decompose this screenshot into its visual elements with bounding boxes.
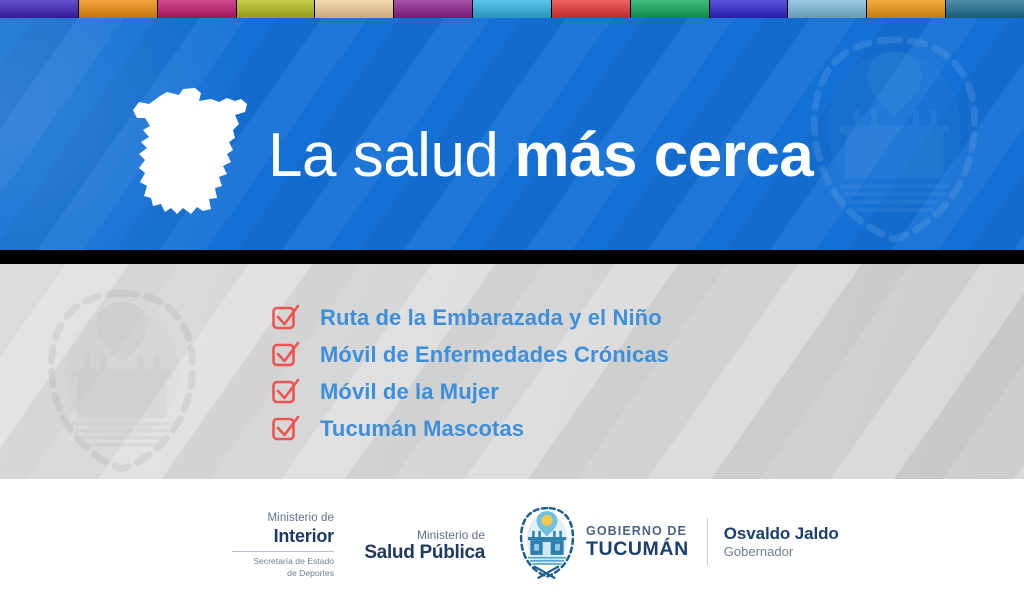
- list-item[interactable]: Ruta de la Embarazada y el Niño: [272, 299, 669, 336]
- color-swatch-olive: [237, 0, 316, 18]
- gobierno-line2: TUCUMÁN: [586, 538, 689, 560]
- color-swatch-light-blue: [788, 0, 867, 18]
- hero-banner: La salud más cerca: [0, 18, 1024, 250]
- list-item-label: Ruta de la Embarazada y el Niño: [320, 305, 662, 331]
- logo-ministerio-salud-publica: Ministerio de Salud Pública: [355, 528, 485, 565]
- salud-line1: Ministerio de: [355, 528, 485, 542]
- headline-bold: más cerca: [514, 125, 813, 187]
- salud-line2: Salud Pública: [355, 542, 485, 565]
- list-item[interactable]: Móvil de la Mujer: [272, 373, 669, 410]
- black-divider: [0, 250, 1024, 264]
- coat-of-arms-watermark-icon: [36, 286, 208, 476]
- color-strip: [0, 0, 1024, 18]
- tucuman-map-icon: [123, 80, 263, 228]
- gobierno-divider: [707, 518, 708, 566]
- gobierno-wordmark: GOBIERNO DE TUCUMÁN: [586, 524, 689, 561]
- interior-line3b: de Deportes: [226, 568, 334, 580]
- color-swatch-peach: [315, 0, 394, 18]
- list-item-label: Tucumán Mascotas: [320, 416, 524, 442]
- page-title: La salud más cerca: [268, 114, 813, 198]
- list-item-label: Móvil de la Mujer: [320, 379, 499, 405]
- coat-of-arms-watermark-icon: [787, 32, 1002, 247]
- checkbox-checked-icon[interactable]: [272, 416, 299, 442]
- color-swatch-amber: [867, 0, 946, 18]
- footer: [0, 479, 1024, 613]
- interior-divider: [232, 551, 334, 552]
- color-swatch-blue-violet: [710, 0, 789, 18]
- color-swatch-cyan: [473, 0, 552, 18]
- interior-line2: Interior: [226, 526, 334, 547]
- promo-banner-page: La salud más cerca: [0, 0, 1024, 613]
- tucuman-coat-of-arms-icon: [516, 505, 578, 579]
- checkbox-checked-icon[interactable]: [272, 379, 299, 405]
- color-swatch-purple: [394, 0, 473, 18]
- interior-line1: Ministerio de: [226, 512, 334, 526]
- governor-block: Osvaldo Jaldo Gobernador: [724, 523, 839, 561]
- color-swatch-orange: [79, 0, 158, 18]
- color-swatch-teal: [946, 0, 1024, 18]
- logo-gobierno-tucuman: GOBIERNO DE TUCUMÁN Osvaldo Jaldo Gobern…: [516, 505, 839, 579]
- governor-name: Osvaldo Jaldo: [724, 523, 839, 544]
- headline-light: La salud: [268, 125, 498, 187]
- list-item[interactable]: Tucumán Mascotas: [272, 410, 669, 447]
- list-item[interactable]: Móvil de Enfermedades Crónicas: [272, 336, 669, 373]
- color-swatch-green: [631, 0, 710, 18]
- color-swatch-magenta: [158, 0, 237, 18]
- logo-ministerio-interior: Ministerio de Interior Secretaría de Est…: [226, 512, 334, 580]
- checkbox-checked-icon[interactable]: [272, 342, 299, 368]
- checkbox-checked-icon[interactable]: [272, 305, 299, 331]
- governor-title: Gobernador: [724, 544, 839, 561]
- color-swatch-indigo: [0, 0, 79, 18]
- gobierno-line1: GOBIERNO DE: [586, 524, 689, 538]
- program-list: Ruta de la Embarazada y el Niño Móvil de…: [272, 299, 669, 447]
- color-swatch-red: [552, 0, 631, 18]
- interior-line3a: Secretaría de Estado: [226, 556, 334, 568]
- list-item-label: Móvil de Enfermedades Crónicas: [320, 342, 669, 368]
